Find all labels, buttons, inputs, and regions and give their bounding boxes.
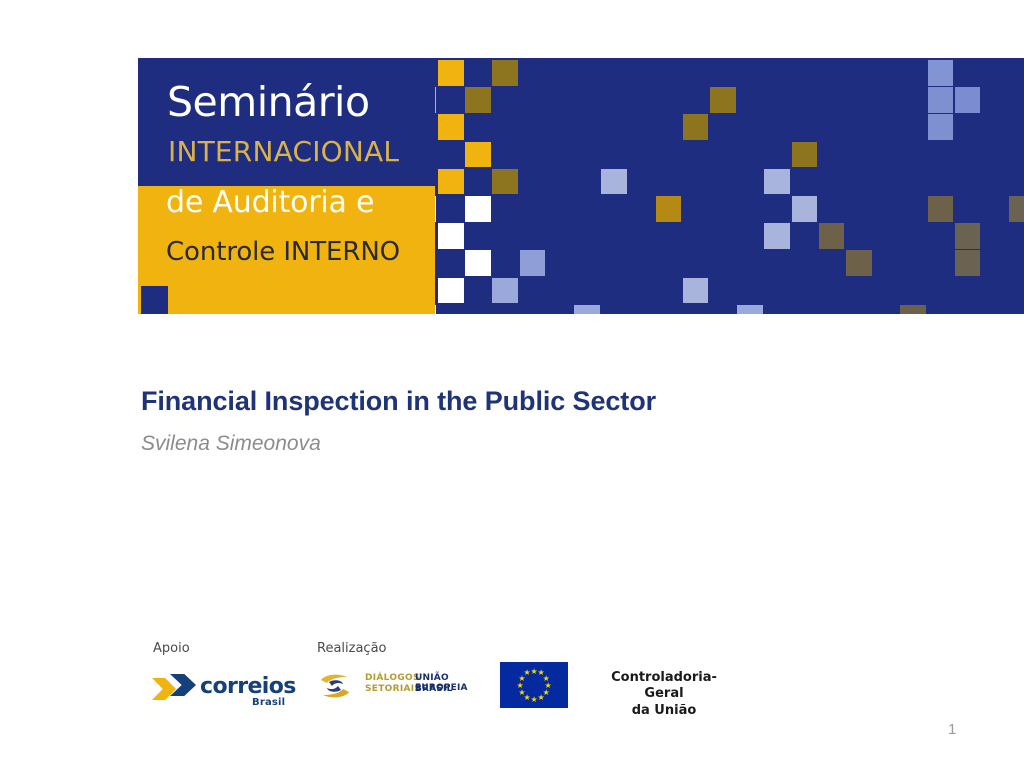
mosaic-tile [819, 223, 845, 249]
mosaic-tile [438, 278, 464, 304]
correios-country: Brasil [252, 697, 285, 708]
mosaic-tile [710, 87, 736, 113]
mosaic-tile [737, 305, 763, 314]
realization-label: Realização [317, 641, 387, 656]
page-number: 1 [948, 721, 956, 738]
eu-flag-star: ★ [518, 689, 525, 696]
mosaic-tile [492, 278, 518, 304]
mosaic-tile [928, 196, 954, 222]
mosaic-tile [1009, 196, 1024, 222]
logo-line-auditoria: de Auditoria e [166, 188, 374, 218]
mosaic-tile [520, 250, 546, 276]
correios-wordmark: correios [200, 674, 296, 699]
correios-chevron-blue-icon [170, 674, 196, 696]
mosaic-tile [928, 87, 954, 113]
cgu-line-2: da União [632, 703, 697, 718]
european-union-flag-icon: ★★★★★★★★★★★★ [500, 662, 568, 708]
mosaic-tile [465, 87, 491, 113]
cgu-logo-text: Controladoria-Geral da União [594, 670, 734, 719]
mosaic-tile [955, 223, 981, 249]
mosaic-tile [955, 250, 981, 276]
mosaic-tile [792, 142, 818, 168]
mosaic-tile [465, 250, 491, 276]
dialogos-line-1: DIÁLOGOS [365, 673, 420, 683]
mosaic-tile [764, 169, 790, 195]
mosaic-tile [955, 87, 981, 113]
dialogos-swirl-icon [315, 671, 355, 701]
author-name: Svilena Simeonova [141, 432, 321, 456]
mosaic-tile [656, 196, 682, 222]
mosaic-tile [438, 114, 464, 140]
mosaic-tile [438, 223, 464, 249]
support-label: Apoio [153, 641, 190, 656]
mosaic-tile [601, 169, 627, 195]
mosaic-tile [900, 305, 926, 314]
mosaic-tile [846, 250, 872, 276]
mosaic-tile [574, 305, 600, 314]
mosaic-tile [928, 60, 954, 86]
eu-flag-star: ★ [517, 682, 524, 689]
correios-chevron-yellow-icon [152, 678, 176, 700]
seminar-banner: Seminário INTERNACIONAL de Auditoria e C… [138, 58, 1024, 314]
eu-flag-star: ★ [531, 696, 538, 703]
eu-flag-star: ★ [538, 694, 545, 701]
mosaic-tile [438, 169, 464, 195]
dialogos-line-4: BRASIL [415, 684, 453, 694]
mosaic-tile [438, 60, 464, 86]
mosaic-tile [764, 223, 790, 249]
mosaic-tile [683, 278, 709, 304]
eu-flag-star: ★ [531, 668, 538, 675]
mosaic-tile [492, 60, 518, 86]
mosaic-tile [465, 142, 491, 168]
dialogos-line-2: SETORIAIS [365, 684, 421, 694]
page-title: Financial Inspection in the Public Secto… [141, 386, 656, 417]
mosaic-tile [465, 196, 491, 222]
mosaic-tile [492, 169, 518, 195]
logo-line-controle: Controle INTERNO [166, 239, 400, 265]
cgu-line-1: Controladoria-Geral [611, 670, 717, 701]
mosaic-tile [683, 114, 709, 140]
mosaic-tile [928, 114, 954, 140]
correios-logo: correios Brasil [152, 670, 282, 714]
logo-line-internacional: INTERNACIONAL [168, 138, 399, 166]
slide-canvas: Seminário INTERNACIONAL de Auditoria e C… [0, 0, 1024, 768]
eu-flag-star: ★ [524, 669, 531, 676]
mosaic-tile [792, 196, 818, 222]
seminar-logo-text: Seminário INTERNACIONAL de Auditoria e C… [138, 58, 435, 314]
logo-line-seminario: Seminário [167, 82, 370, 123]
dialogos-setoriais-logo: DIÁLOGOS SETORIAIS UNIÃO EUROPEIA BRASIL [315, 668, 475, 708]
